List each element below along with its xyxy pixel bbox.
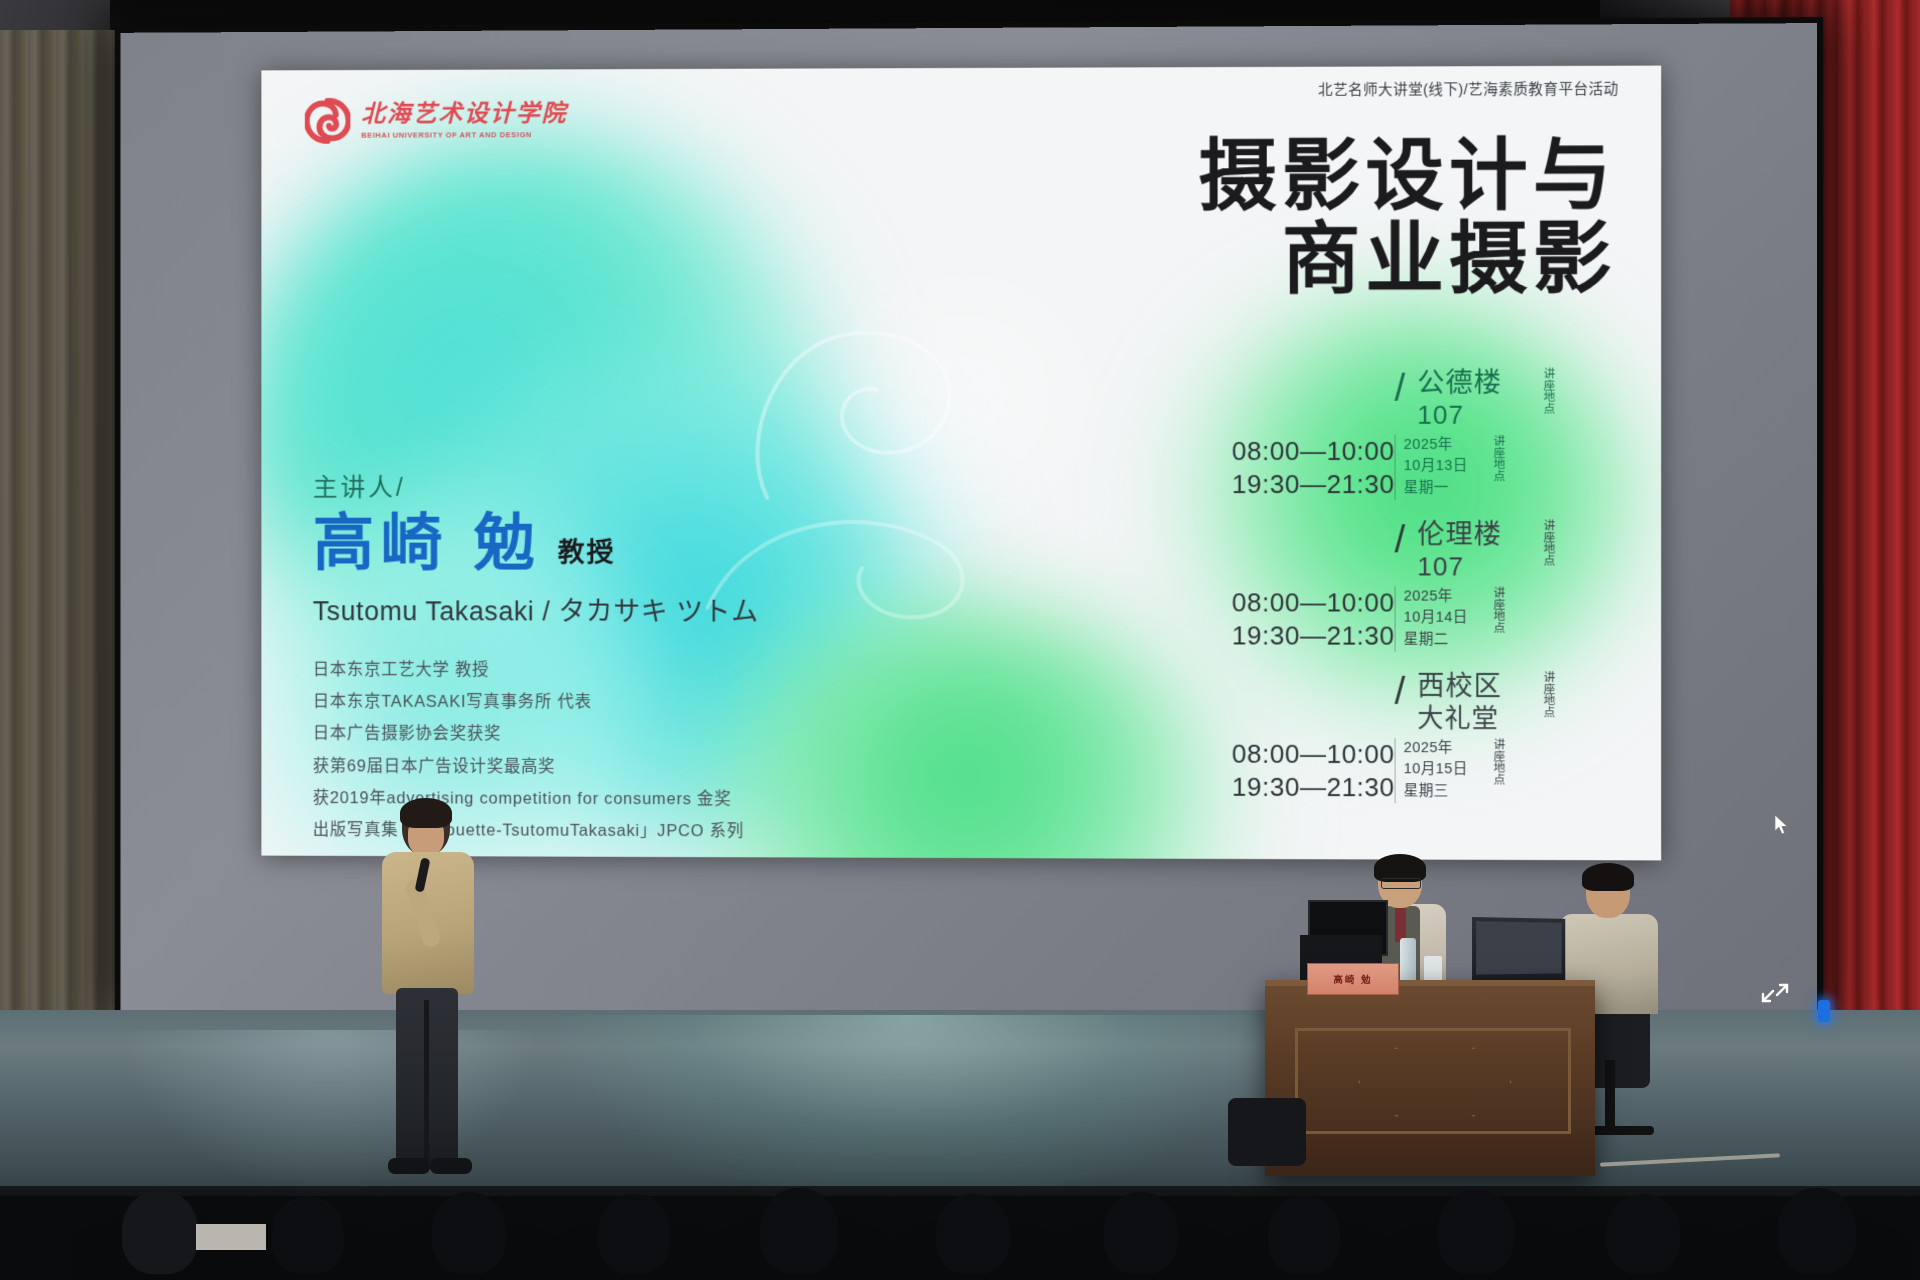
podium-table [1265,980,1595,1176]
time-morning: 08:00—10:00 [1214,586,1395,620]
venue-line-2: 107 [1417,551,1526,582]
schedule-list: / 公德楼 107 讲座地点 08:00—10:00 19:30—21:30 2… [1214,367,1647,823]
year: 2025年 [1404,434,1477,456]
logo-english-name: BEIHAI UNIVERSITY OF ART AND DESIGN [361,131,567,139]
collapse-diagonal-arrows-icon[interactable] [1760,978,1790,1008]
university-logo: 北海艺术设计学院 BEIHAI UNIVERSITY OF ART AND DE… [305,97,568,144]
right-curtain-inner [1842,0,1920,1040]
slash-divider-icon: / [1395,521,1406,559]
weekday: 星期一 [1404,478,1477,500]
arrow-cursor [1774,814,1790,836]
weekday: 星期二 [1404,630,1477,652]
table-diamond-ornament [1358,1047,1512,1117]
venue-line-1: 西校区 [1417,671,1526,703]
lecture-hall-scene: 北艺名师大讲堂(线下)/艺海素质教育平台活动 北海艺术设计学院 BEIHAI U… [0,0,1920,1280]
year: 2025年 [1404,586,1477,608]
schedule-entry: / 伦理楼 107 讲座地点 08:00—10:00 19:30—21:30 2… [1214,519,1647,653]
vertical-venue-label: 讲座地点 [1534,519,1554,565]
venue-line-2: 107 [1417,400,1526,431]
speaker-romanized-name: Tsutomu Takasaki / タカサキ ツトム [313,589,759,628]
year: 2025年 [1404,738,1477,760]
venue-line-1: 公德楼 [1417,368,1526,400]
slash-divider-icon: / [1395,370,1406,408]
handout-paper [196,1224,266,1250]
title-line-2: 商业摄影 [1198,217,1616,301]
speaker-name: 高崎 勉 [313,514,542,576]
vertical-venue-label: 讲座地点 [1534,671,1554,717]
chair-pole [1605,1060,1615,1130]
time-evening: 19:30—21:30 [1214,468,1395,501]
speaker-block: 主讲人/ 高崎 勉 教授 Tsutomu Takasaki / タカサキ ツトム… [313,468,759,847]
time-morning: 08:00—10:00 [1214,434,1395,467]
vertical-venue-label: 讲座地点 [1484,586,1504,632]
slide-title: 摄影设计与 商业摄影 [1198,134,1616,301]
podium-nameplate: 高崎 勉 [1307,963,1399,995]
schedule-entry: / 公德楼 107 讲座地点 08:00—10:00 19:30—21:30 2… [1214,367,1647,501]
bio-line: 获第69届日本广告设计奖最高奖 [313,750,759,783]
time-evening: 19:30—21:30 [1214,771,1395,805]
standing-presenter [372,800,482,1200]
date: 10月14日 [1404,608,1477,630]
bio-line: 日本东京TAKASAKI写真事务所 代表 [313,686,759,719]
bio-line: 日本东京工艺大学 教授 [313,654,759,687]
time-evening: 19:30—21:30 [1214,619,1395,653]
blue-indicator-light [1818,1000,1830,1022]
slide-header-text: 北艺名师大讲堂(线下)/艺海素质教育平台活动 [1318,78,1619,100]
date: 10月15日 [1404,760,1477,782]
vertical-venue-label: 讲座地点 [1534,368,1554,414]
title-line-1: 摄影设计与 [1198,134,1616,218]
red-spiral-logo-icon [305,98,350,144]
slash-divider-icon: / [1395,673,1406,711]
vertical-venue-label: 讲座地点 [1484,738,1504,784]
venue-line-1: 伦理楼 [1417,519,1526,551]
logo-chinese-name: 北海艺术设计学院 [361,102,567,127]
presentation-slide: 北艺名师大讲堂(线下)/艺海素质教育平台活动 北海艺术设计学院 BEIHAI U… [261,66,1661,861]
time-morning: 08:00—10:00 [1214,737,1395,771]
speaker-academic-title: 教授 [558,531,616,576]
schedule-entry: / 西校区 大礼堂 讲座地点 08:00—10:00 19:30—21:30 2… [1214,671,1647,806]
left-curtain [0,30,118,1040]
laptop-right [1472,917,1565,985]
weekday: 星期三 [1404,781,1477,803]
eyeglasses-icon [1381,878,1421,889]
vertical-venue-label: 讲座地点 [1484,434,1504,480]
podium-nameplate-text: 高崎 勉 [1333,972,1372,986]
speaker-label: 主讲人/ [313,468,759,504]
bio-line: 日本广告摄影协会奖获奖 [313,718,759,751]
audience-row [0,1150,1920,1280]
venue-line-2: 大礼堂 [1417,703,1526,734]
date: 10月13日 [1404,456,1477,478]
